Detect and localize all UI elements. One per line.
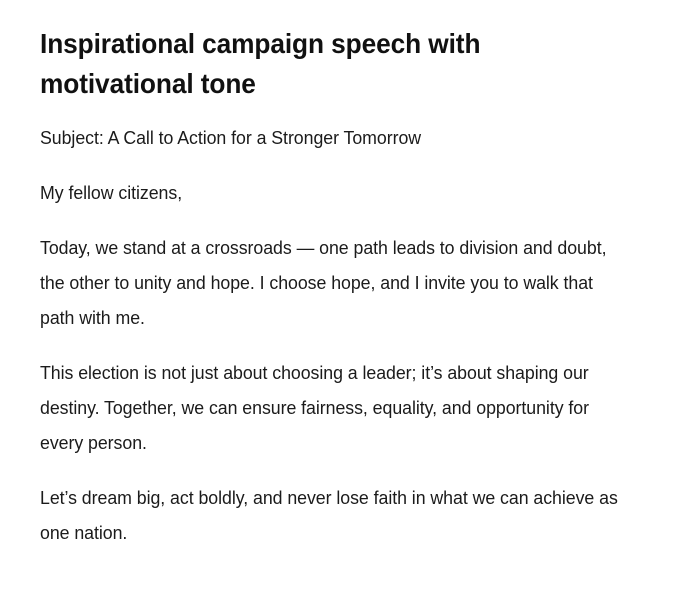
spacer	[40, 335, 630, 355]
document-page: Inspirational campaign speech with motiv…	[0, 0, 700, 590]
page-title: Inspirational campaign speech with motiv…	[40, 24, 630, 104]
spacer	[40, 460, 630, 480]
subject-line: Subject: A Call to Action for a Stronger…	[40, 120, 629, 155]
body-paragraph-2: This election is not just about choosing…	[40, 355, 629, 460]
salutation: My fellow citizens,	[40, 175, 629, 210]
spacer	[40, 104, 630, 120]
spacer	[40, 155, 630, 175]
body-paragraph-1: Today, we stand at a crossroads — one pa…	[40, 230, 629, 335]
article-body: Inspirational campaign speech with motiv…	[40, 24, 630, 550]
body-paragraph-3: Let’s dream big, act boldly, and never l…	[40, 480, 629, 550]
spacer	[40, 210, 630, 230]
